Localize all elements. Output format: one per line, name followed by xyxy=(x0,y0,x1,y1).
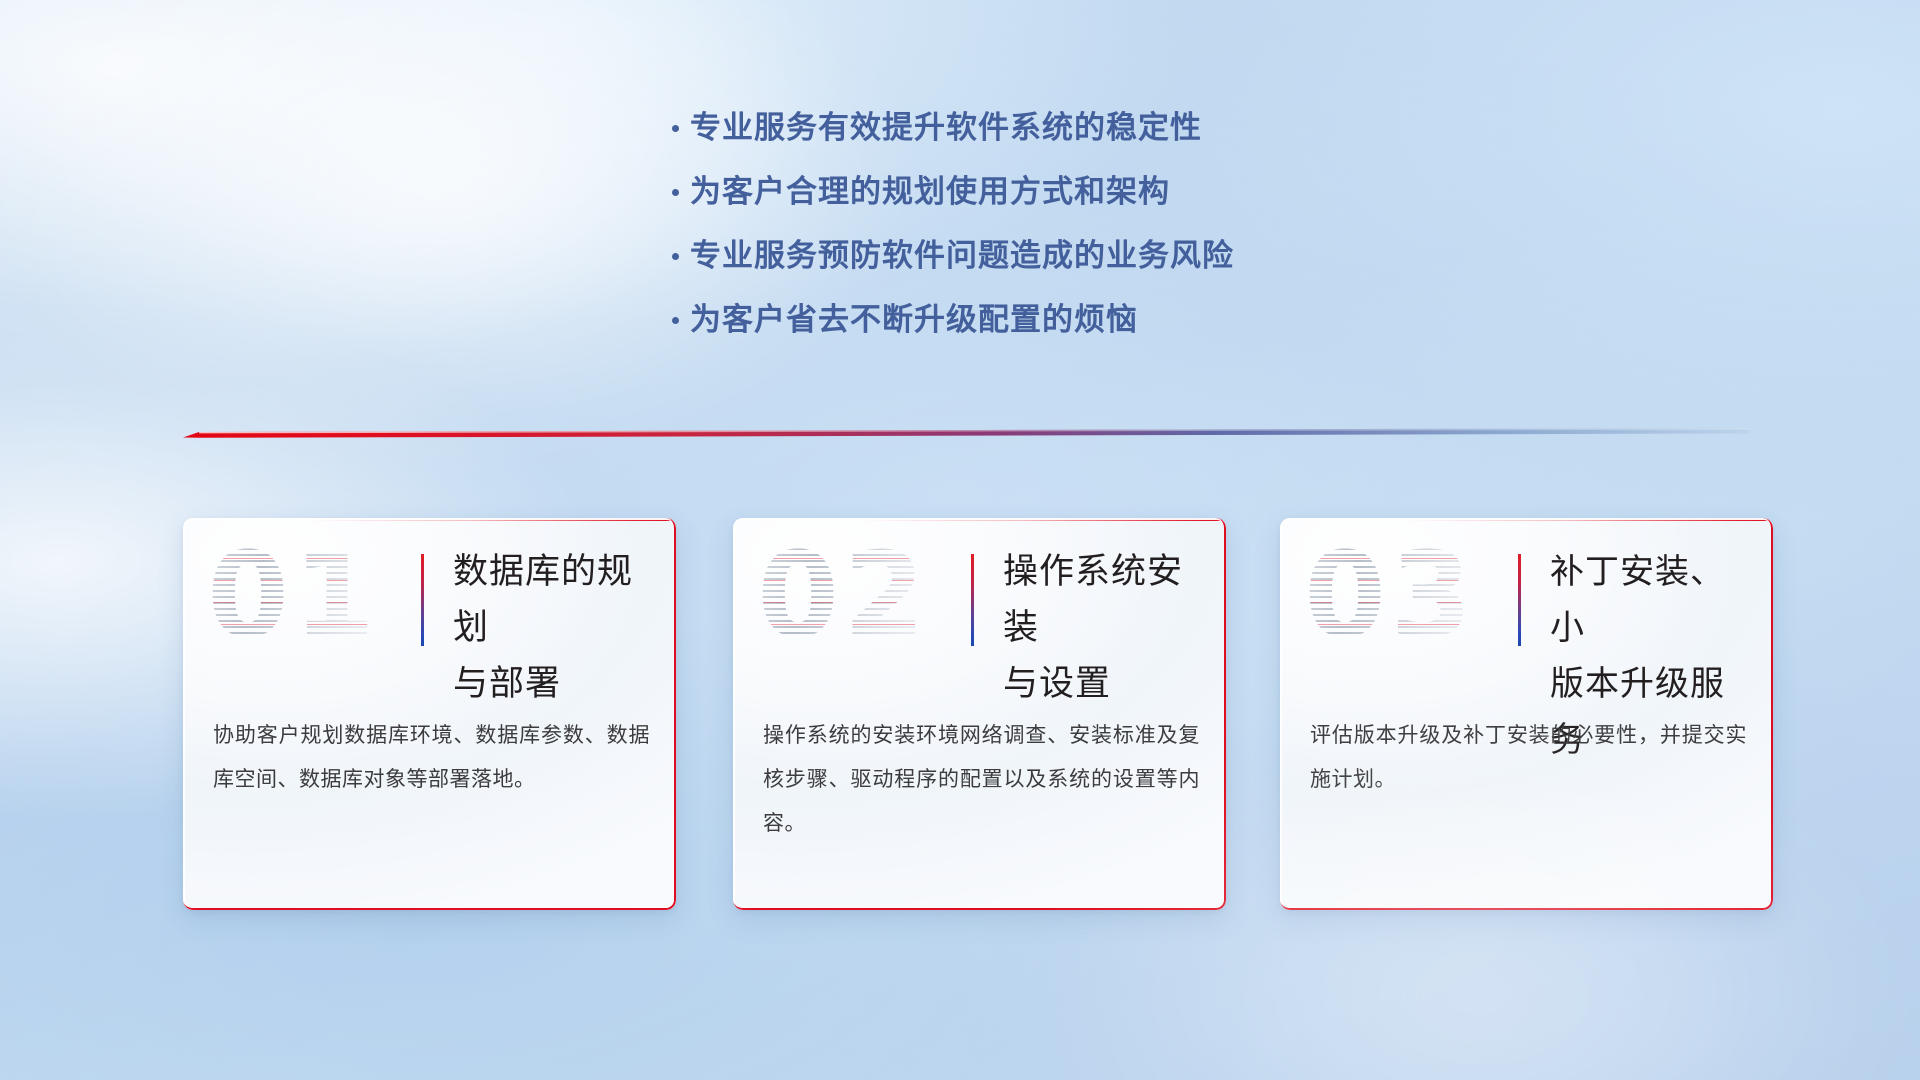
card-title-line-2: 与设置 xyxy=(1003,656,1210,712)
card-header: 02 02 操作系统安装 与设置 xyxy=(733,518,1226,688)
list-item: 专业服务预防软件问题造成的业务风险 xyxy=(640,224,1400,288)
card-title-line-1: 操作系统安装 xyxy=(1003,544,1210,656)
service-card-row: 01 01 数据库的规划 与部署 协助客户规划数据库环境、数据库参数、数据库空间… xyxy=(0,518,1920,928)
bullet-text: 为客户省去不断升级配置的烦恼 xyxy=(690,302,1138,337)
card-title: 数据库的规划 与部署 xyxy=(453,544,660,712)
benefits-bullet-list: 专业服务有效提升软件系统的稳定性 为客户合理的规划使用方式和架构 专业服务预防软… xyxy=(640,96,1400,352)
card-header: 01 01 数据库的规划 与部署 xyxy=(183,518,676,688)
card-description: 评估版本升级及补丁安装的必要性，并提交实施计划。 xyxy=(1310,714,1747,802)
service-card-01[interactable]: 01 01 数据库的规划 与部署 协助客户规划数据库环境、数据库参数、数据库空间… xyxy=(183,518,676,910)
card-number-watermark: 01 xyxy=(207,536,379,654)
card-title-separator xyxy=(971,554,974,646)
service-card-02[interactable]: 02 02 操作系统安装 与设置 操作系统的安装环境网络调查、安装标准及复核步骤… xyxy=(733,518,1226,910)
card-number-watermark: 02 xyxy=(757,536,929,654)
card-title-line-1: 数据库的规划 xyxy=(453,544,660,656)
bullet-dot-icon xyxy=(672,317,679,324)
bullet-text: 专业服务有效提升软件系统的稳定性 xyxy=(690,110,1202,145)
card-header: 03 03 补丁安装、小 版本升级服务 xyxy=(1280,518,1773,688)
card-title-separator xyxy=(1518,554,1521,646)
card-title: 操作系统安装 与设置 xyxy=(1003,544,1210,712)
card-title-line-1: 补丁安装、小 xyxy=(1550,544,1757,656)
list-item: 为客户省去不断升级配置的烦恼 xyxy=(640,288,1400,352)
bullet-dot-icon xyxy=(672,125,679,132)
service-card-03[interactable]: 03 03 补丁安装、小 版本升级服务 评估版本升级及补丁安装的必要性，并提交实… xyxy=(1280,518,1773,910)
card-description: 操作系统的安装环境网络调查、安装标准及复核步骤、驱动程序的配置以及系统的设置等内… xyxy=(763,714,1200,846)
slide-canvas: 专业服务有效提升软件系统的稳定性 为客户合理的规划使用方式和架构 专业服务预防软… xyxy=(0,0,1920,1080)
bullet-dot-icon xyxy=(672,253,679,260)
bullet-text: 专业服务预防软件问题造成的业务风险 xyxy=(690,238,1234,273)
card-title-line-2: 与部署 xyxy=(453,656,660,712)
bullet-text: 为客户合理的规划使用方式和架构 xyxy=(690,174,1170,209)
card-title-separator xyxy=(421,554,424,646)
card-description: 协助客户规划数据库环境、数据库参数、数据库空间、数据库对象等部署落地。 xyxy=(213,714,650,802)
section-divider xyxy=(183,424,1749,446)
card-number-watermark: 03 xyxy=(1304,536,1476,654)
bullet-dot-icon xyxy=(672,189,679,196)
list-item: 为客户合理的规划使用方式和架构 xyxy=(640,160,1400,224)
list-item: 专业服务有效提升软件系统的稳定性 xyxy=(640,96,1400,160)
